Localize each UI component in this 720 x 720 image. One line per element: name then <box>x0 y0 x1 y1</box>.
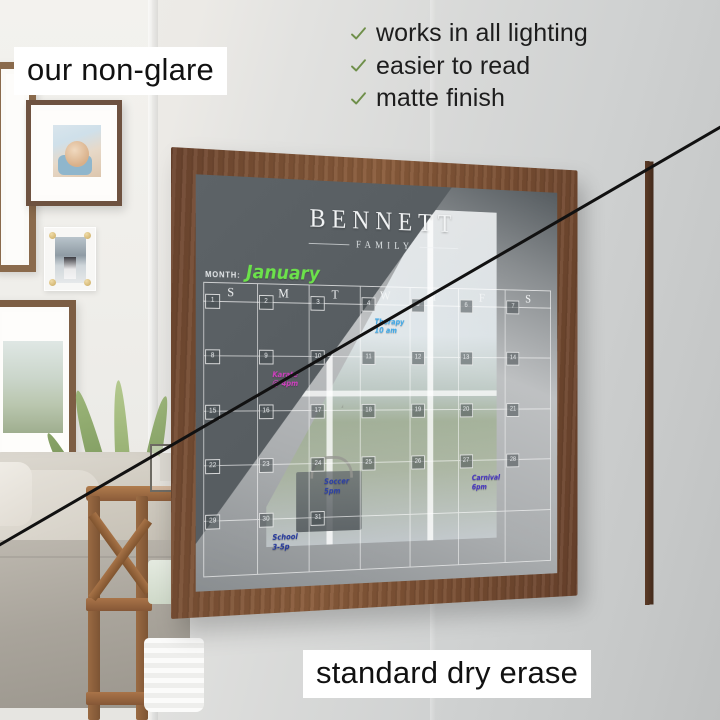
calendar-day-cell[interactable]: 5 <box>409 305 457 358</box>
feature-bullet: easier to read <box>350 51 588 82</box>
feature-bullet-text: works in all lighting <box>376 18 588 49</box>
date-number: 20 <box>459 403 472 417</box>
date-number: 25 <box>362 457 376 472</box>
date-number: 24 <box>311 457 325 472</box>
calendar-day-cell[interactable]: 22 <box>203 466 257 522</box>
date-number: 3 <box>311 296 325 311</box>
calendar-day-cell[interactable]: 14 <box>505 358 551 409</box>
calendar-day-cell[interactable]: 6 <box>458 306 505 358</box>
board-branding: BENNETT FAMILY <box>196 198 558 257</box>
wood-frame: BENNETT FAMILY MONTH: January SMTWTFS <box>171 147 577 619</box>
month-label: MONTH: <box>205 270 240 280</box>
date-number: 4 <box>362 297 376 312</box>
date-number: 22 <box>205 459 220 474</box>
date-number: 12 <box>411 351 425 365</box>
calendar-day-cell[interactable]: 19 <box>409 410 457 463</box>
acrylic-frame-wedding <box>44 227 96 291</box>
feature-bullet-text: easier to read <box>376 51 530 82</box>
calendar-week-row: 1234Therapy 10 am567 <box>203 301 551 359</box>
date-number: 26 <box>411 456 425 470</box>
calendar-day-cell[interactable]: 24Soccer 5pm <box>309 463 360 518</box>
date-number: 14 <box>507 352 520 366</box>
label-non-glare: our non-glare <box>14 47 227 95</box>
date-number: 21 <box>507 403 520 417</box>
date-number: 28 <box>507 454 520 468</box>
date-number: 16 <box>259 404 274 419</box>
calendar-day-cell[interactable]: 1 <box>203 301 257 357</box>
calendar-content: BENNETT FAMILY MONTH: January SMTWTFS <box>196 174 558 591</box>
calendar-day-cell[interactable]: 10 <box>309 357 360 411</box>
calendar-week-row: 2930School 3-5p31 <box>203 510 551 577</box>
date-number: 13 <box>459 351 472 365</box>
calendar-day-cell[interactable]: 8 <box>203 356 257 411</box>
date-number: 18 <box>362 404 376 418</box>
date-number: 27 <box>459 455 472 469</box>
calendar-day-cell[interactable]: 16 <box>257 411 309 466</box>
calendar-day-cell[interactable]: 23 <box>257 465 309 521</box>
calendar-day-cell[interactable]: 7 <box>505 307 551 359</box>
feature-bullet: matte finish <box>350 83 588 114</box>
calendar-day-cell[interactable] <box>360 515 410 570</box>
calendar-day-cell[interactable]: 28 <box>505 460 551 512</box>
calendar-week-row: 15161718192021 <box>203 409 551 467</box>
calendar-day-cell[interactable]: 17 <box>309 410 360 464</box>
calendar-day-cell[interactable]: 31 <box>309 517 360 573</box>
calendar-note[interactable]: Carnival 6pm <box>472 473 500 491</box>
date-number: 30 <box>259 513 274 528</box>
calendar-day-cell[interactable]: 13 <box>458 358 505 410</box>
calendar-note[interactable]: School 3-5p <box>272 532 297 551</box>
woven-basket <box>144 638 204 712</box>
calendar-note[interactable]: Soccer 5pm <box>324 477 349 496</box>
date-number: 11 <box>362 350 376 364</box>
calendar-day-cell[interactable]: 20 <box>458 409 505 461</box>
label-standard-dry-erase: standard dry erase <box>303 650 591 698</box>
sofa-pillow <box>0 462 32 526</box>
calendar-day-cell[interactable]: 11 <box>360 357 410 410</box>
date-number: 6 <box>459 299 472 313</box>
calendar-day-cell[interactable] <box>458 512 505 565</box>
calendar-day-cell[interactable]: 2 <box>257 302 309 357</box>
framed-art-lower-left <box>0 300 76 470</box>
check-icon <box>350 90 367 107</box>
promo-image: BENNETT FAMILY MONTH: January SMTWTFS <box>0 0 720 720</box>
calendar-weeks: 1234Therapy 10 am56789Karate @ 4pm101112… <box>203 301 551 578</box>
calendar-day-cell[interactable] <box>409 513 457 567</box>
date-number: 8 <box>205 349 220 364</box>
feature-bullet: works in all lighting <box>350 18 588 49</box>
date-number: 29 <box>205 515 220 530</box>
date-number: 2 <box>259 295 274 310</box>
date-number: 17 <box>311 404 325 419</box>
calendar-day-cell[interactable]: 9Karate @ 4pm <box>257 356 309 411</box>
date-number: 9 <box>259 350 274 365</box>
calendar-day-cell[interactable]: 27Carnival 6pm <box>458 460 505 513</box>
check-icon <box>350 57 367 74</box>
date-number: 7 <box>507 300 520 314</box>
feature-bullets: works in all lightingeasier to readmatte… <box>350 18 588 114</box>
date-number: 19 <box>411 403 425 417</box>
calendar-day-cell[interactable]: 18 <box>360 410 410 464</box>
calendar-day-cell[interactable]: 12 <box>409 357 457 410</box>
check-icon <box>350 25 367 42</box>
date-number: 23 <box>259 458 274 473</box>
family-sub-text: FAMILY <box>356 240 413 252</box>
board-surface: BENNETT FAMILY MONTH: January SMTWTFS <box>196 174 558 591</box>
feature-bullet-text: matte finish <box>376 83 505 114</box>
calendar-day-cell[interactable] <box>505 510 551 563</box>
frame-side-edge <box>645 161 654 605</box>
dry-erase-board[interactable]: BENNETT FAMILY MONTH: January SMTWTFS <box>171 147 645 621</box>
calendar-day-cell[interactable]: 26 <box>409 461 457 515</box>
month-value[interactable]: January <box>246 261 320 284</box>
calendar-week-row: 89Karate @ 4pm1011121314 <box>203 356 551 411</box>
framed-photo-baby <box>26 100 122 206</box>
calendar-day-cell[interactable]: 29 <box>203 520 257 577</box>
calendar-day-cell[interactable]: 21 <box>505 409 551 461</box>
calendar-day-cell[interactable]: 30School 3-5p <box>257 518 309 574</box>
date-number: 1 <box>205 294 220 309</box>
calendar-day-cell[interactable]: 25 <box>360 462 410 516</box>
date-number: 31 <box>311 511 325 526</box>
month-row[interactable]: MONTH: January <box>205 260 320 285</box>
